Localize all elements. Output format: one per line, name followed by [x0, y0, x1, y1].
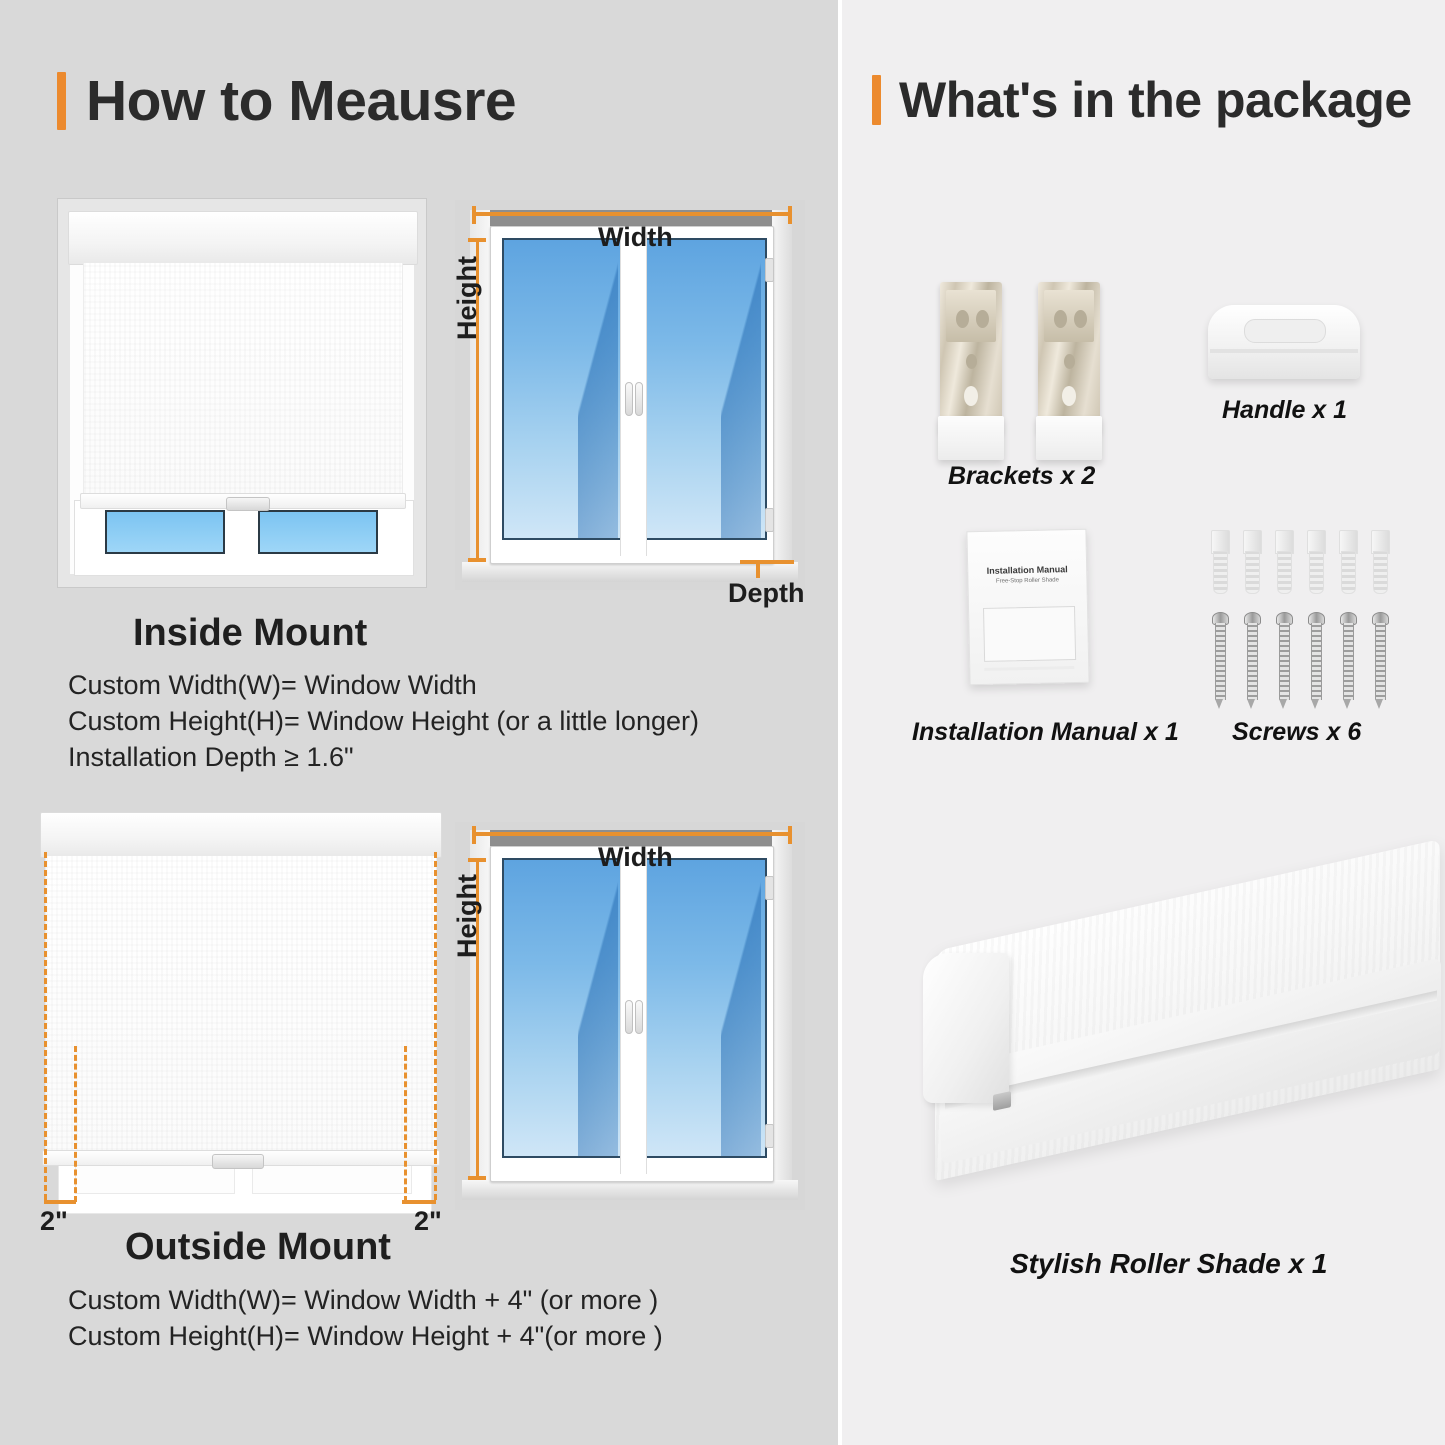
outside-mount-line-2: Custom Height(H)= Window Height + 4"(or … — [68, 1321, 663, 1352]
manual-cover-title: Installation Manual — [968, 564, 1086, 576]
height-label-inside: Height — [452, 256, 483, 340]
roller-shade-label: Stylish Roller Shade x 1 — [1010, 1248, 1327, 1280]
roller-shade-icon — [905, 895, 1435, 1205]
manual-label: Installation Manual x 1 — [912, 718, 1179, 747]
height-label-outside: Height — [452, 874, 483, 958]
inside-mount-line-3: Installation Depth ≥ 1.6" — [68, 742, 354, 773]
whats-in-package-title: What's in the package — [899, 75, 1412, 125]
depth-label-inside: Depth — [728, 578, 805, 609]
manual-icon: Installation Manual Free-Stop Roller Sha… — [966, 529, 1089, 685]
accent-bar-icon — [57, 72, 66, 130]
width-label-inside: Width — [598, 222, 673, 253]
width-label-outside: Width — [598, 842, 673, 873]
screws-label: Screws x 6 — [1232, 718, 1361, 747]
brackets-label: Brackets x 2 — [948, 462, 1095, 491]
inside-mount-title: Inside Mount — [133, 612, 367, 655]
right-panel-heading: What's in the package — [872, 75, 1412, 125]
outside-mount-title: Outside Mount — [125, 1226, 391, 1269]
overhang-left-label: 2" — [40, 1206, 68, 1237]
inside-mount-line-2: Custom Height(H)= Window Height (or a li… — [68, 706, 699, 737]
overhang-right-label: 2" — [414, 1206, 442, 1237]
how-to-measure-title: How to Meausre — [86, 73, 516, 130]
accent-bar-icon — [872, 75, 881, 125]
handle-icon — [1208, 305, 1360, 379]
left-panel-heading: How to Meausre — [57, 72, 516, 130]
manual-cover-subtitle: Free-Stop Roller Shade — [968, 577, 1086, 585]
infographic-page: How to Meausre — [0, 0, 1445, 1445]
inside-mount-line-1: Custom Width(W)= Window Width — [68, 670, 477, 701]
outside-mount-line-1: Custom Width(W)= Window Width + 4" (or m… — [68, 1285, 658, 1316]
handle-label: Handle x 1 — [1222, 396, 1347, 425]
